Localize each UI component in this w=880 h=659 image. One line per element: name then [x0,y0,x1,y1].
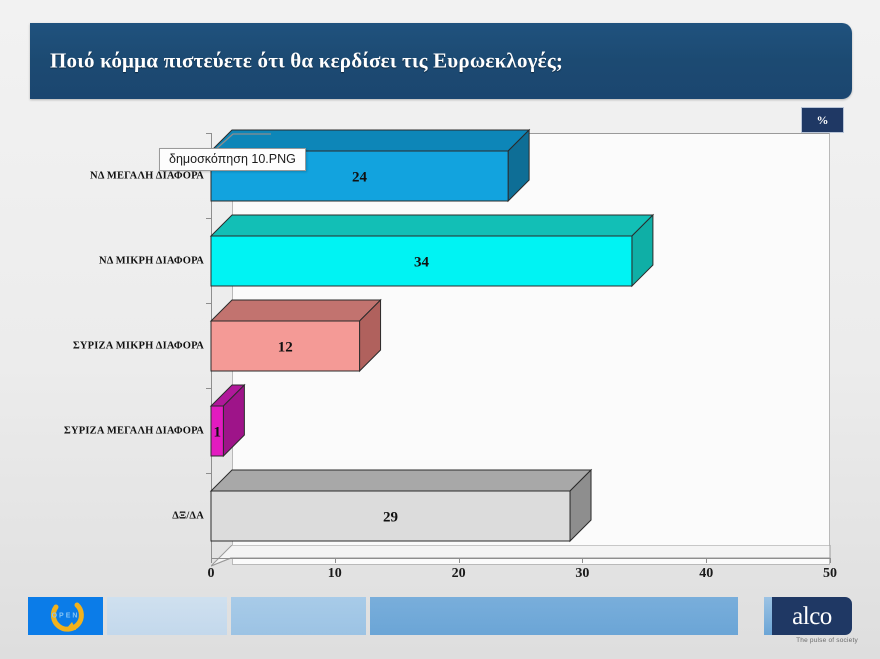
x-axis-tick [830,558,831,563]
x-axis-tick-label: 30 [575,566,589,582]
bar-chart: 01020304050 ΝΔ ΜΕΓΑΛΗ ΔΙΑΦΟΡΑΝΔ ΜΙΚΡΗ ΔΙ… [150,120,850,590]
category-label: ΔΞ/ΔΑ [172,510,204,521]
category-label: ΝΔ ΜΕΓΑΛΗ ΔΙΑΦΟΡΑ [90,170,204,181]
x-axis-tick [706,558,707,563]
open-logo: OPEN [28,597,103,635]
x-axis-tick [459,558,460,563]
alco-logo: alco [772,597,852,635]
x-axis-tick [335,558,336,563]
slide-title-bar: Ποιό κόμμα πιστεύετε ότι θα κερδίσει τις… [30,23,852,99]
category-label: ΝΔ ΜΙΚΡΗ ΔΙΑΦΟΡΑ [99,255,204,266]
footer-bar-1 [107,597,227,635]
slide-footer: OPEN alco The pulse of society [28,597,852,639]
page-title: Ποιό κόμμα πιστεύετε ότι θα κερδίσει τις… [50,49,563,74]
bar-value-label: 29 [383,509,398,526]
x-axis-tick-label: 50 [823,566,837,582]
bar-value-label: 34 [414,254,429,271]
alco-tagline: The pulse of society [772,637,880,644]
chart-floor [211,545,830,566]
x-axis-tick-label: 0 [208,566,215,582]
bar-value-label: 24 [352,169,367,186]
slide: Ποιό κόμμα πιστεύετε ότι θα κερδίσει τις… [0,0,880,659]
category-label: ΣΥΡΙΖΑ ΜΙΚΡΗ ΔΙΑΦΟΡΑ [73,340,204,351]
file-tooltip: δημοσκόπηση 10.PNG [159,148,306,171]
x-axis-tick [582,558,583,563]
x-axis-tick-label: 40 [699,566,713,582]
footer-bar-3 [370,597,738,635]
footer-bar-2 [231,597,366,635]
x-axis-tick-label: 20 [452,566,466,582]
alco-logo-text: alco [792,604,832,629]
bar-value-label: 12 [278,339,293,356]
x-axis-tick [211,558,212,563]
footer-bar-4 [764,597,772,635]
category-label: ΣΥΡΙΖΑ ΜΕΓΑΛΗ ΔΙΑΦΟΡΑ [64,425,204,436]
x-axis-line [211,558,831,559]
bar-value-label: 1 [213,424,221,441]
x-axis-tick-label: 10 [328,566,342,582]
open-logo-text: OPEN [52,613,80,620]
